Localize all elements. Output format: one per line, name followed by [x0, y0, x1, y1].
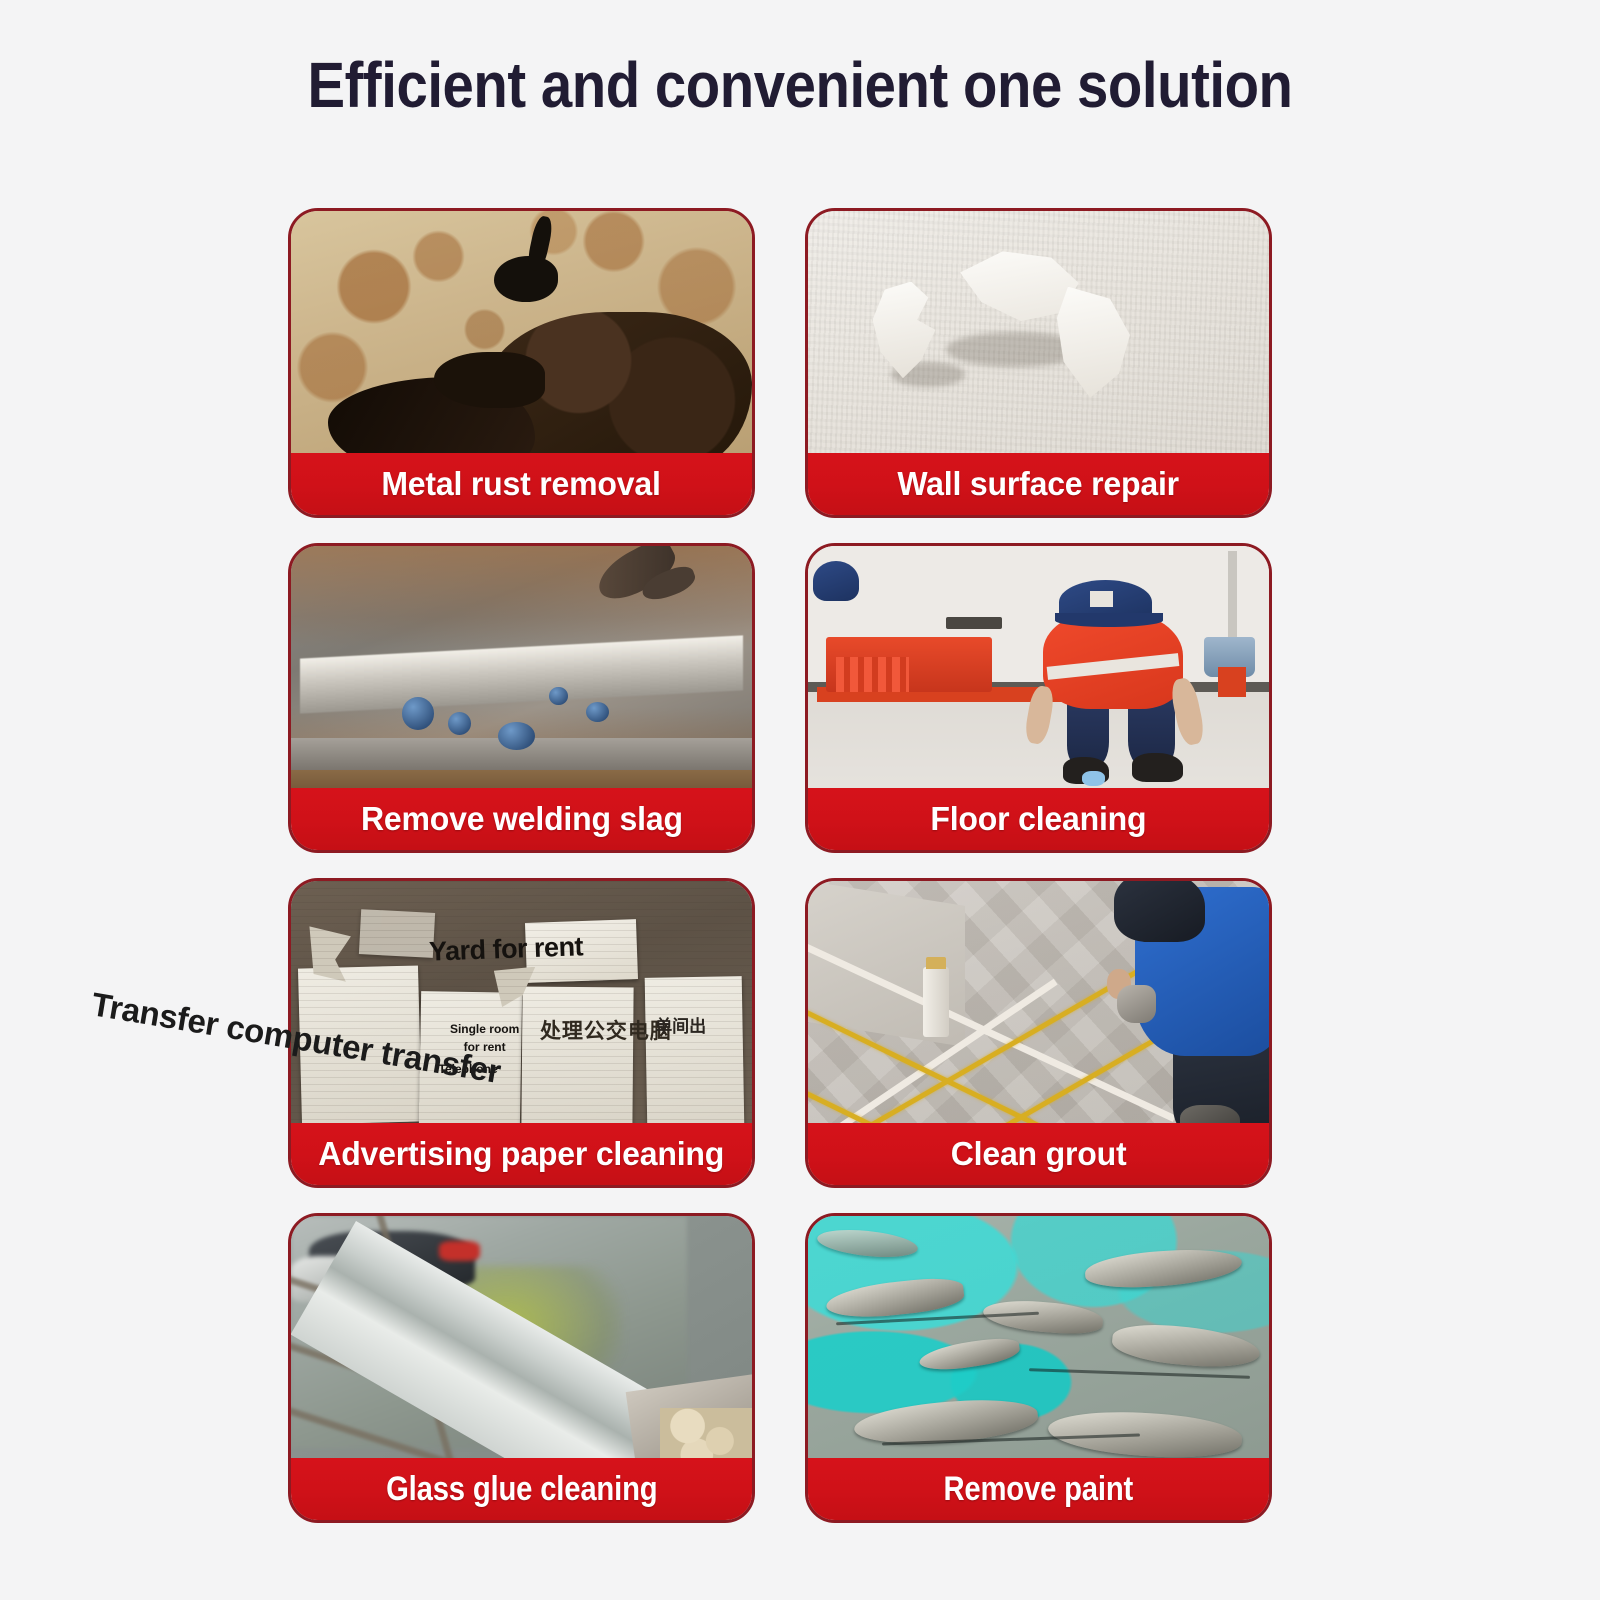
flyer-chinese-text-1: 处理公交电脑 — [540, 1015, 672, 1045]
window-frame-image — [291, 1216, 752, 1468]
floor-cleaning-image — [808, 546, 1269, 798]
grout-cleaning-image — [808, 881, 1269, 1133]
card-label-text: Remove welding slag — [361, 800, 683, 838]
card-label-text: Floor cleaning — [930, 800, 1146, 838]
grout-worker-figure — [1103, 881, 1269, 1133]
flyer-chinese-text-2: 单间出 — [655, 1012, 706, 1037]
card-row-2: Remove welding slag — [288, 543, 1272, 853]
feature-card-clean-grout[interactable]: Clean grout — [805, 878, 1272, 1188]
card-label-text: Metal rust removal — [382, 465, 661, 503]
card-row-1: Metal rust removal Wall surface repair — [288, 208, 1272, 518]
card-photo-remove-welding-slag — [291, 546, 752, 798]
card-label-band: Metal rust removal — [291, 453, 752, 515]
card-row-4: Glass glue cleaning Remove paint — [288, 1213, 1272, 1523]
overlay-yard-for-rent: Yard for rent — [429, 931, 584, 967]
card-label-text: Advertising paper cleaning — [319, 1135, 725, 1173]
card-label-band: Remove paint — [808, 1458, 1269, 1520]
infographic-page: Efficient and convenient one solution Me… — [0, 0, 1600, 1600]
rust-texture-image — [291, 211, 752, 463]
feature-card-remove-welding-slag[interactable]: Remove welding slag — [288, 543, 755, 853]
card-label-text: Remove paint — [944, 1470, 1134, 1509]
card-photo-wall-surface-repair — [808, 211, 1269, 463]
feature-card-remove-paint[interactable]: Remove paint — [805, 1213, 1272, 1523]
card-label-band: Clean grout — [808, 1123, 1269, 1185]
feature-card-floor-cleaning[interactable]: Floor cleaning — [805, 543, 1272, 853]
feature-card-wall-surface-repair[interactable]: Wall surface repair — [805, 208, 1272, 518]
feature-card-glass-glue-cleaning[interactable]: Glass glue cleaning — [288, 1213, 755, 1523]
card-photo-clean-grout — [808, 881, 1269, 1133]
page-title: Efficient and convenient one solution — [96, 48, 1504, 122]
card-label-band: Glass glue cleaning — [291, 1458, 752, 1520]
peeling-wall-image — [808, 211, 1269, 463]
peeling-teal-paint-image — [808, 1216, 1269, 1468]
card-label-band: Advertising paper cleaning — [291, 1123, 752, 1185]
feature-card-grid: Metal rust removal Wall surface repair — [288, 208, 1272, 1548]
card-label-band: Floor cleaning — [808, 788, 1269, 850]
card-label-band: Remove welding slag — [291, 788, 752, 850]
feature-card-metal-rust-removal[interactable]: Metal rust removal — [288, 208, 755, 518]
welding-slag-image — [291, 546, 752, 798]
card-photo-metal-rust-removal — [291, 211, 752, 463]
card-photo-floor-cleaning — [808, 546, 1269, 798]
card-row-3: 处理公交电脑 单间出 Yard for rent Single room for… — [288, 878, 1272, 1188]
worker-figure — [1020, 571, 1214, 793]
card-photo-remove-paint — [808, 1216, 1269, 1468]
card-photo-glass-glue-cleaning — [291, 1216, 752, 1468]
card-photo-advertising-paper-cleaning: 处理公交电脑 单间出 Yard for rent Single room for… — [291, 881, 752, 1133]
card-label-text: Clean grout — [951, 1135, 1127, 1173]
card-label-text: Wall surface repair — [898, 465, 1180, 503]
card-label-band: Wall surface repair — [808, 453, 1269, 515]
advertising-flyers-image: 处理公交电脑 单间出 Yard for rent Single room for… — [291, 881, 752, 1133]
card-label-text: Glass glue cleaning — [386, 1470, 657, 1509]
